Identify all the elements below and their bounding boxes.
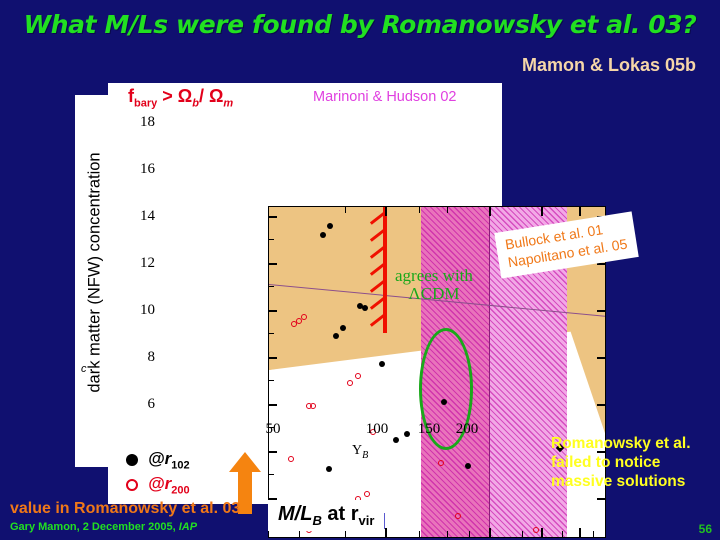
x-tick-label: 50 xyxy=(256,421,290,438)
x-tick xyxy=(299,531,300,537)
data-point-r200 xyxy=(301,314,307,320)
x-tick xyxy=(345,531,346,537)
x-tick xyxy=(489,528,491,537)
slide-root: What M/Ls were found by Romanowsky et al… xyxy=(0,0,720,540)
x-axis-label: Υ200B xyxy=(352,443,368,461)
x-tick-top xyxy=(579,207,581,216)
x-tick xyxy=(593,531,594,537)
data-point-r200 xyxy=(291,321,297,327)
y-tick xyxy=(269,380,274,381)
x-tick xyxy=(562,531,563,537)
y-tick xyxy=(269,216,277,218)
slide-footer: Gary Mamon, 2 December 2005, IAP xyxy=(10,521,197,533)
data-point-r200 xyxy=(288,456,294,462)
y-tick xyxy=(269,333,274,334)
x-tick-label: 200 xyxy=(450,421,484,438)
data-point-r102 xyxy=(465,463,471,469)
y-tick-right xyxy=(597,310,605,312)
x-tick xyxy=(522,531,523,537)
data-point-r200 xyxy=(364,491,370,497)
romanowsky-note: Romanowsky et al. failed to notice massi… xyxy=(551,435,711,492)
data-point-r200 xyxy=(533,527,539,533)
page-title: What M/Ls were found by Romanowsky et al… xyxy=(0,10,720,39)
x-tick-top xyxy=(345,207,346,213)
x-tick xyxy=(469,531,470,537)
data-point-r102 xyxy=(379,361,385,367)
y-tick-label: 14 xyxy=(125,208,155,225)
value-in-romanowsky-label: value in Romanowsky et al. 03 xyxy=(10,500,240,518)
legend-label-r102: @r102 xyxy=(148,449,190,471)
y-tick xyxy=(269,310,277,312)
marinoni-hudson-label: Marinoni & Hudson 02 xyxy=(313,89,456,105)
x-tick xyxy=(579,528,581,537)
y-tick-right xyxy=(597,357,605,359)
y-tick-label: 16 xyxy=(125,161,155,178)
x-tick xyxy=(385,528,387,537)
x-tick-top xyxy=(419,207,420,213)
y-tick xyxy=(269,286,274,287)
data-point-r200 xyxy=(438,460,444,466)
data-point-r200 xyxy=(306,403,312,409)
data-point-r102 xyxy=(340,325,346,331)
y-tick-right xyxy=(597,404,605,406)
data-point-r200 xyxy=(355,373,361,379)
y-tick-label: 8 xyxy=(125,349,155,366)
y-tick xyxy=(269,451,277,453)
fbary-condition-label: fbary > Ωb/ Ωm xyxy=(128,86,233,110)
legend-label-r200: @r200 xyxy=(148,474,190,496)
figure-panel: fbary > Ωb/ Ωm Marinoni & Hudson 02 xyxy=(108,83,502,504)
data-point-r102 xyxy=(326,466,332,472)
y-tick xyxy=(269,239,274,240)
x-tick-top xyxy=(385,207,387,216)
data-point-r102 xyxy=(404,431,410,437)
y-tick xyxy=(269,263,277,265)
page-number: 56 xyxy=(699,522,712,536)
x-tick xyxy=(447,531,448,537)
x-tick-top xyxy=(489,207,491,216)
data-point-r200 xyxy=(455,513,461,519)
y-axis-label-panel: dark matter (NFW) concentration c xyxy=(75,95,111,467)
y-tick xyxy=(269,474,274,475)
x-tick xyxy=(419,531,420,537)
ml-ratio-label: M/LB at rvir xyxy=(268,500,384,531)
y-axis-label: dark matter (NFW) concentration xyxy=(86,103,105,443)
x-tick-label: 100 xyxy=(360,421,394,438)
data-point-r102 xyxy=(333,333,339,339)
vertical-reference-line xyxy=(489,207,490,537)
x-tick-label: 150 xyxy=(412,421,446,438)
y-tick-label: 6 xyxy=(125,396,155,413)
x-tick-top xyxy=(447,207,448,213)
data-point-r200 xyxy=(347,380,353,386)
y-tick-label: 18 xyxy=(125,114,155,131)
legend-marker-r200 xyxy=(126,479,138,491)
data-point-r102 xyxy=(362,305,368,311)
y-tick xyxy=(269,357,277,359)
x-tick xyxy=(541,528,543,537)
data-point-r102 xyxy=(441,399,447,405)
y-tick-label: 12 xyxy=(125,255,155,272)
data-point-r102 xyxy=(320,232,326,238)
y-axis-variable: c xyxy=(81,363,87,375)
y-tick xyxy=(269,404,277,406)
y-tick-label: 10 xyxy=(125,302,155,319)
agrees-with-lcdm-label: agrees with ΛCDM xyxy=(395,267,473,303)
y-tick-right xyxy=(597,498,605,500)
legend-marker-r102 xyxy=(126,454,138,466)
slide-subtitle: Mamon & Lokas 05b xyxy=(522,55,696,76)
x-tick-top xyxy=(541,207,543,216)
data-point-r102 xyxy=(327,223,333,229)
